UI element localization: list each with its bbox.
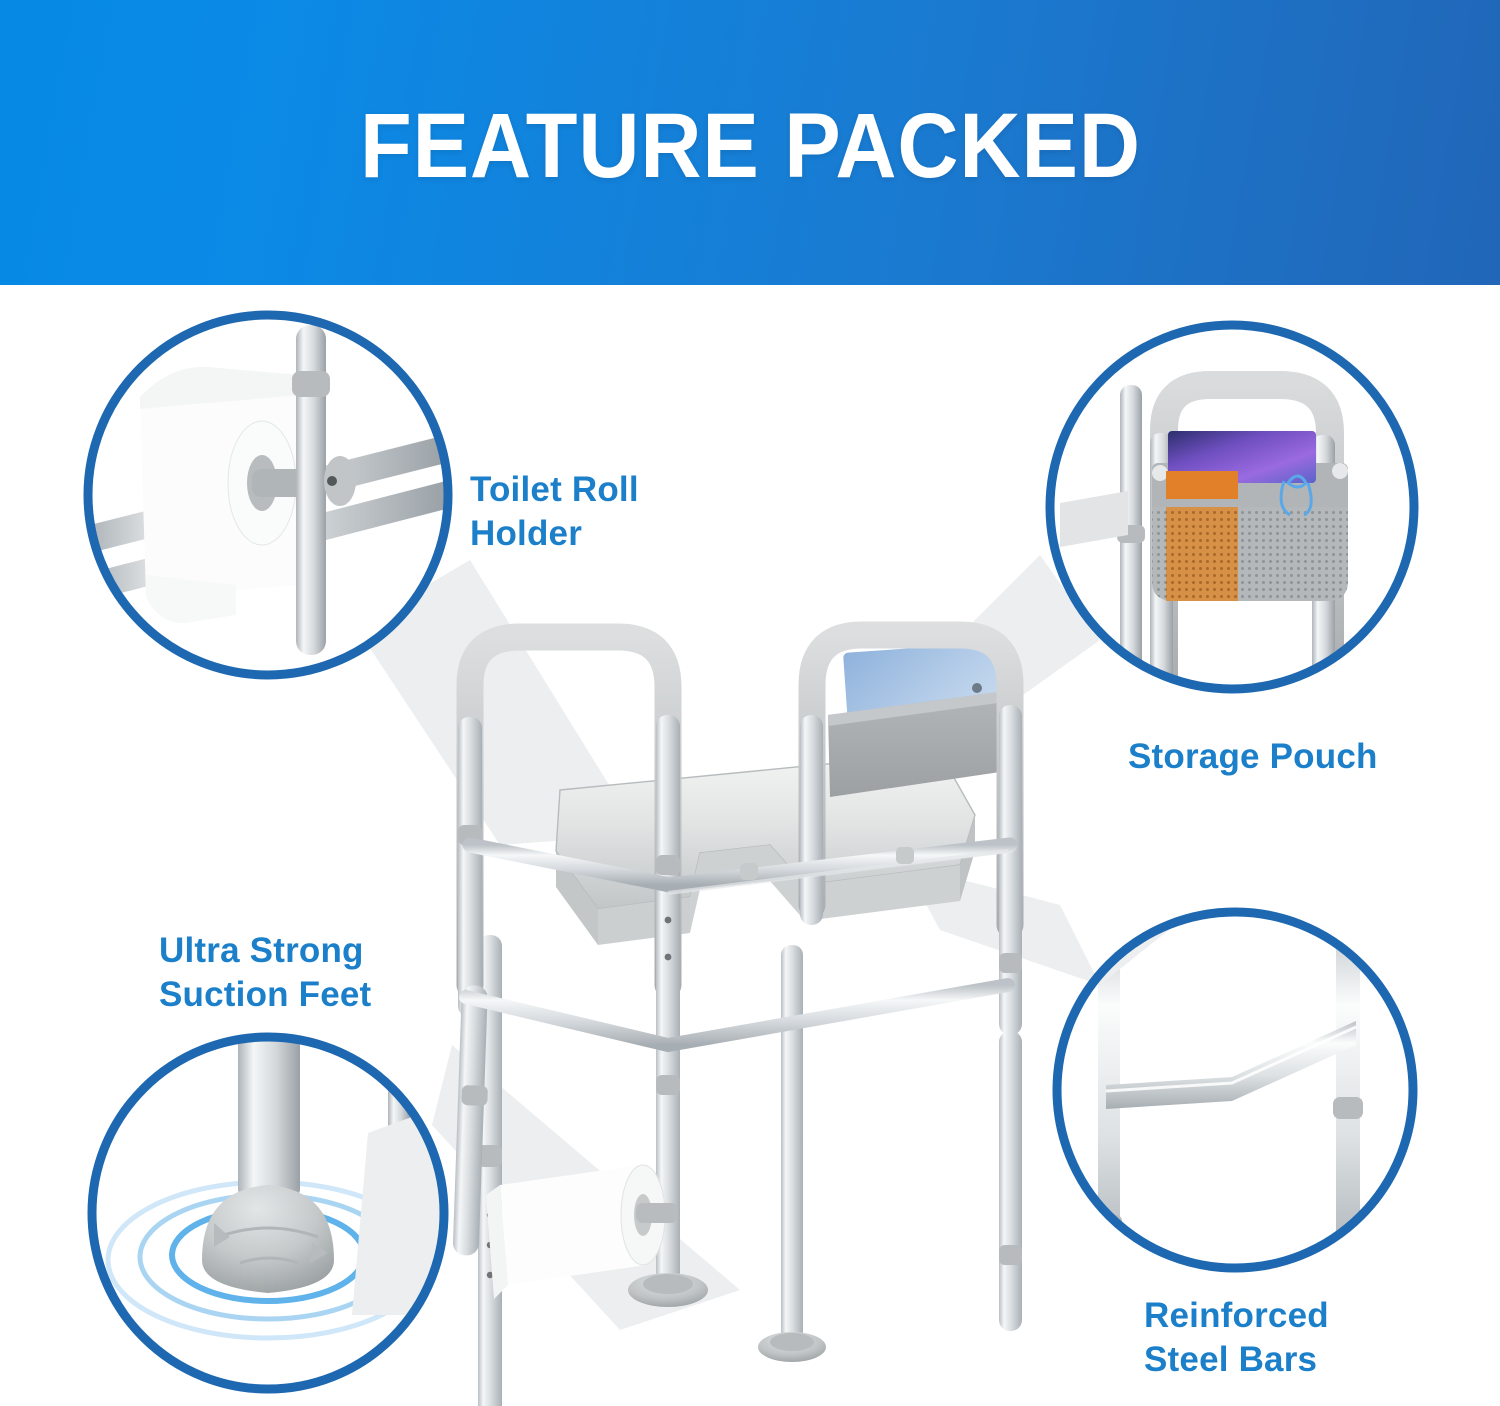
header-banner: FEATURE PACKED: [0, 0, 1500, 285]
feature-label-suction-feet: Ultra Strong Suction Feet: [159, 929, 371, 1018]
feature-label-toilet-roll-holder: Toilet Roll Holder: [470, 468, 639, 557]
detail-circle-steel-bars: [0, 285, 1500, 1406]
page-title: FEATURE PACKED: [360, 100, 1141, 192]
feature-label-reinforced-steel-bars: Reinforced Steel Bars: [1144, 1294, 1329, 1383]
feature-stage: Toilet Roll Holder Storage Pouch Ultra S…: [0, 285, 1500, 1406]
feature-label-storage-pouch: Storage Pouch: [1128, 735, 1378, 779]
